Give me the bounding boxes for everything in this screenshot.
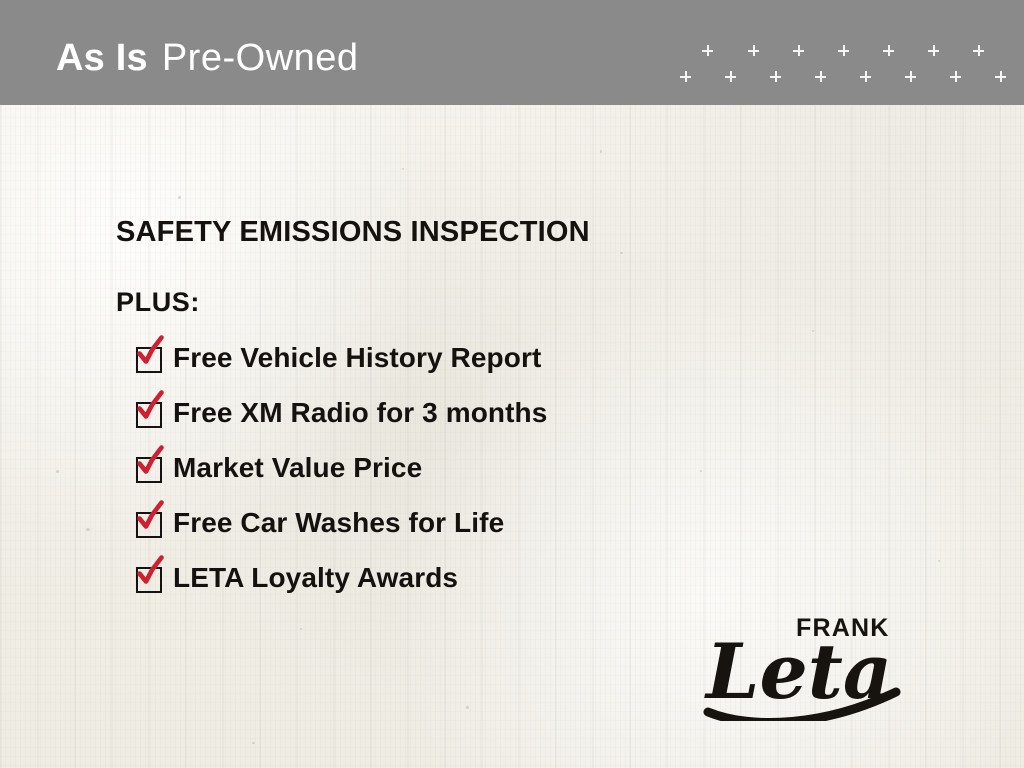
page-title-strong: As Is: [56, 37, 148, 79]
checkmark-icon: [137, 501, 171, 535]
list-item-label: Market Value Price: [173, 448, 422, 488]
page-title: As IsPre-Owned: [56, 36, 359, 80]
logo-leta-script: Leta: [700, 626, 915, 721]
plus-label: PLUS:: [116, 287, 200, 318]
paper-speck: [620, 252, 623, 254]
header-plus-decoration: [660, 30, 1024, 100]
plus-mark-icon: [928, 45, 939, 56]
list-item-label: Free Car Washes for Life: [173, 503, 504, 543]
plus-mark-icon: [883, 45, 894, 56]
plus-mark-icon: [793, 45, 804, 56]
paper-speck: [252, 742, 255, 744]
plus-mark-icon: [860, 71, 871, 82]
header-bar: As IsPre-Owned: [0, 0, 1024, 105]
plus-mark-icon: [702, 45, 713, 56]
benefits-checklist: Free Vehicle History Report Free XM Radi…: [136, 338, 736, 613]
paper-speck: [938, 560, 940, 562]
checkbox-checked[interactable]: [136, 347, 162, 373]
checkmark-icon: [137, 391, 171, 425]
plus-mark-icon: [995, 71, 1006, 82]
paper-speck: [86, 528, 90, 531]
paper-speck: [466, 706, 469, 709]
frank-leta-logo: FRANK Leta: [700, 608, 915, 723]
paper-speck: [56, 470, 59, 473]
section-headline: SAFETY EMISSIONS INSPECTION: [116, 216, 590, 249]
list-item: Market Value Price: [136, 448, 736, 503]
checkmark-icon: [137, 446, 171, 480]
paper-speck: [812, 330, 814, 332]
paper-speck: [178, 196, 181, 199]
plus-mark-icon: [725, 71, 736, 82]
page-title-light: Pre-Owned: [162, 37, 359, 79]
plus-mark-icon: [905, 71, 916, 82]
plus-mark-icon: [770, 71, 781, 82]
plus-mark-icon: [973, 45, 984, 56]
list-item-label: Free Vehicle History Report: [173, 338, 541, 378]
plus-mark-icon: [950, 71, 961, 82]
list-item: Free Car Washes for Life: [136, 503, 736, 558]
checkbox-checked[interactable]: [136, 567, 162, 593]
plus-mark-icon: [748, 45, 759, 56]
checkbox-checked[interactable]: [136, 457, 162, 483]
checkmark-icon: [137, 336, 171, 370]
slide-canvas: As IsPre-Owned SAFETY EMISSIONS INSPECTI…: [0, 0, 1024, 768]
checkbox-checked[interactable]: [136, 512, 162, 538]
checkbox-checked[interactable]: [136, 402, 162, 428]
plus-mark-icon: [680, 71, 691, 82]
plus-mark-icon: [838, 45, 849, 56]
paper-speck: [402, 168, 404, 170]
list-item: LETA Loyalty Awards: [136, 558, 736, 613]
list-item: Free Vehicle History Report: [136, 338, 736, 393]
paper-speck: [600, 150, 602, 153]
list-item-label: LETA Loyalty Awards: [173, 558, 458, 598]
paper-speck: [300, 628, 302, 630]
checkmark-icon: [137, 556, 171, 590]
list-item: Free XM Radio for 3 months: [136, 393, 736, 448]
list-item-label: Free XM Radio for 3 months: [173, 393, 547, 433]
plus-mark-icon: [815, 71, 826, 82]
